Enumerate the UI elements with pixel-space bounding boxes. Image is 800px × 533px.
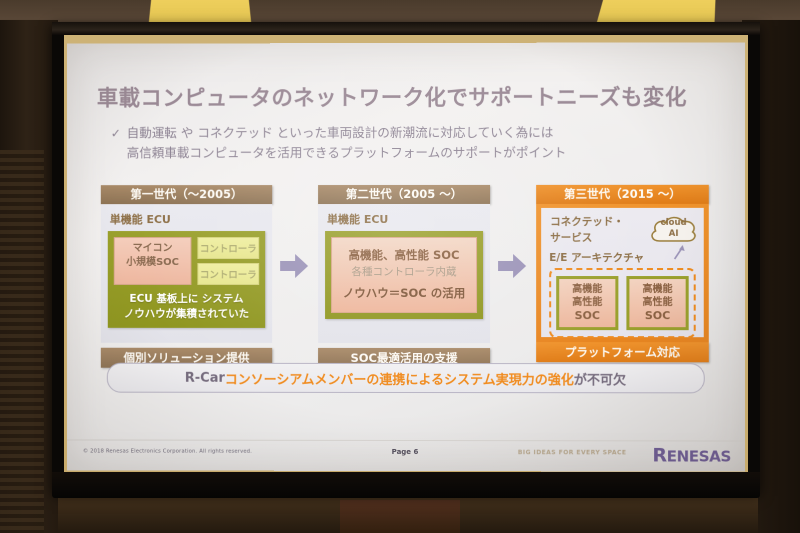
- arrow-up-icon: [672, 244, 686, 260]
- soc-box-2: 高機能 高性能 SOC: [626, 276, 688, 330]
- soc-box-1: 高機能 高性能 SOC: [556, 276, 618, 330]
- column-2-olive-panel: 高機能、高性能 SOC 各種コントローラ内蔵 ノウハウ＝SOC の活用: [325, 231, 483, 319]
- generation-column-1: 第一世代（～2005） 単機能 ECU マイコン 小規模SOC コントローラ コ…: [101, 185, 272, 368]
- podium: [340, 500, 460, 533]
- screen-bottom-bar: [52, 472, 760, 498]
- chip-controller-1: コントローラ: [197, 237, 259, 259]
- column-1-note-line2: ノウハウが集積されていた: [114, 307, 259, 322]
- cloud-ai-group: cloud AI: [647, 212, 699, 246]
- column-3-header: 第三世代（2015 ～）: [536, 185, 709, 204]
- copyright-text: © 2018 Renesas Electronics Corporation. …: [83, 448, 252, 454]
- column-2-subtitle: 単機能 ECU: [327, 211, 483, 227]
- bullet-block: ✓ 自動運転 や コネクテッド といった車両設計の新潮流に対応していく為には 高…: [111, 123, 711, 164]
- column-3-inner-panel: コネクテッド・ サービス cloud AI: [541, 208, 704, 337]
- chip-microcontroller-line1: マイコン: [115, 242, 191, 256]
- column-2-soc-panel: 高機能、高性能 SOC 各種コントローラ内蔵 ノウハウ＝SOC の活用: [331, 237, 477, 313]
- screen-top-bar: [52, 22, 760, 35]
- column-1-olive-panel: マイコン 小規模SOC コントローラ コントローラ ECU 基板上に システム …: [108, 231, 265, 328]
- window-blinds: [0, 150, 44, 533]
- banner-part-3: が不可欠: [574, 369, 626, 388]
- column-2-panel-line3: ノウハウ＝SOC の活用: [336, 284, 472, 302]
- presentation-slide: 車載コンピュータのネットワーク化でサポートニーズも変化 ✓ 自動運転 や コネク…: [67, 42, 745, 471]
- soc-box-1-line2: 高性能: [559, 296, 615, 309]
- cloud-line-1: cloud: [647, 218, 699, 229]
- banner-part-2: コンソーシアムメンバーの連携によるシステム実現力の強化: [225, 368, 574, 387]
- renesas-logo-r: R: [652, 444, 666, 466]
- conference-room-photo: 車載コンピュータのネットワーク化でサポートニーズも変化 ✓ 自動運転 や コネク…: [0, 0, 800, 533]
- column-3-footer: プラットフォーム対応: [536, 342, 709, 362]
- ee-architecture-zone: 高機能 高性能 SOC 高機能 高性能 SOC: [549, 268, 696, 338]
- cloud-line-2: AI: [647, 229, 699, 240]
- bullet-line-2: 高信頼車載コンピュータを活用できるプラットフォームのサポートがポイント: [127, 143, 711, 164]
- arrow-right-icon-1: [279, 251, 309, 281]
- chip-microcontroller-line2: 小規模SOC: [115, 256, 191, 270]
- bullet-line-1: 自動運転 や コネクテッド といった車両設計の新潮流に対応していく為には: [127, 123, 554, 143]
- column-1-note: ECU 基板上に システム ノウハウが集積されていた: [114, 292, 259, 322]
- cloud-ai-label: cloud AI: [647, 218, 699, 240]
- column-1-body: 単機能 ECU マイコン 小規模SOC コントローラ コントローラ ECU: [101, 204, 272, 343]
- chip-controller-2: コントローラ: [197, 263, 259, 285]
- column-2-body: 単機能 ECU 高機能、高性能 SOC 各種コントローラ内蔵 ノウハウ＝SOC …: [318, 204, 490, 343]
- generation-column-3: 第三世代（2015 ～） コネクテッド・ サービス cloud AI: [536, 185, 709, 362]
- checkmark-icon: ✓: [111, 123, 127, 143]
- arrow-right-icon-2: [497, 251, 527, 281]
- column-1-header: 第一世代（～2005）: [101, 185, 272, 204]
- tagline-text: BIG IDEAS FOR EVERY SPACE: [518, 449, 627, 456]
- column-1-note-line1: ECU 基板上に システム: [114, 292, 259, 307]
- column-2-panel-line1: 高機能、高性能 SOC: [336, 247, 472, 264]
- soc-box-2-line2: 高性能: [629, 296, 685, 309]
- summary-banner: R-Car コンソーシアムメンバーの連携によるシステム実現力の強化 が不可欠: [107, 363, 705, 394]
- renesas-logo: RENESAS: [652, 444, 730, 466]
- slide-footer: © 2018 Renesas Electronics Corporation. …: [67, 439, 745, 471]
- chip-microcontroller: マイコン 小規模SOC: [114, 237, 192, 285]
- generation-column-2: 第二世代（2005 ～） 単機能 ECU 高機能、高性能 SOC 各種コントロー…: [318, 185, 490, 368]
- column-2-panel-line2: 各種コントローラ内蔵: [336, 264, 472, 280]
- column-2-header: 第二世代（2005 ～）: [318, 185, 490, 204]
- soc-box-1-line3: SOC: [559, 309, 615, 322]
- soc-box-2-line1: 高機能: [629, 283, 685, 296]
- banner-part-1: R-Car: [185, 370, 225, 385]
- page-number: Page 6: [392, 448, 419, 456]
- soc-box-1-line1: 高機能: [559, 283, 615, 296]
- renesas-logo-rest: ENESAS: [667, 447, 731, 465]
- column-3-body: コネクテッド・ サービス cloud AI: [536, 204, 709, 342]
- column-1-subtitle: 単機能 ECU: [110, 211, 265, 227]
- soc-box-2-line3: SOC: [629, 309, 685, 322]
- slide-title: 車載コンピュータのネットワーク化でサポートニーズも変化: [97, 81, 717, 113]
